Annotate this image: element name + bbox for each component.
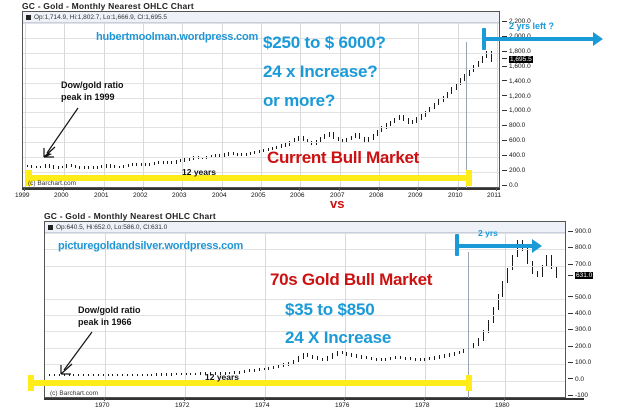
bottom-pointer-arrow-icon	[0, 208, 620, 412]
top-chart-panel: GC - Gold - Monthly Nearest OHLC Chart O…	[0, 0, 620, 208]
top-barchart-credit: (c) Barchart.com	[28, 180, 76, 187]
bottom-barchart-credit: (c) Barchart.com	[50, 390, 98, 397]
bottom-chart-panel: GC - Gold - Monthly Nearest OHLC Chart O…	[0, 208, 620, 412]
top-pointer-arrow-icon	[0, 0, 620, 208]
